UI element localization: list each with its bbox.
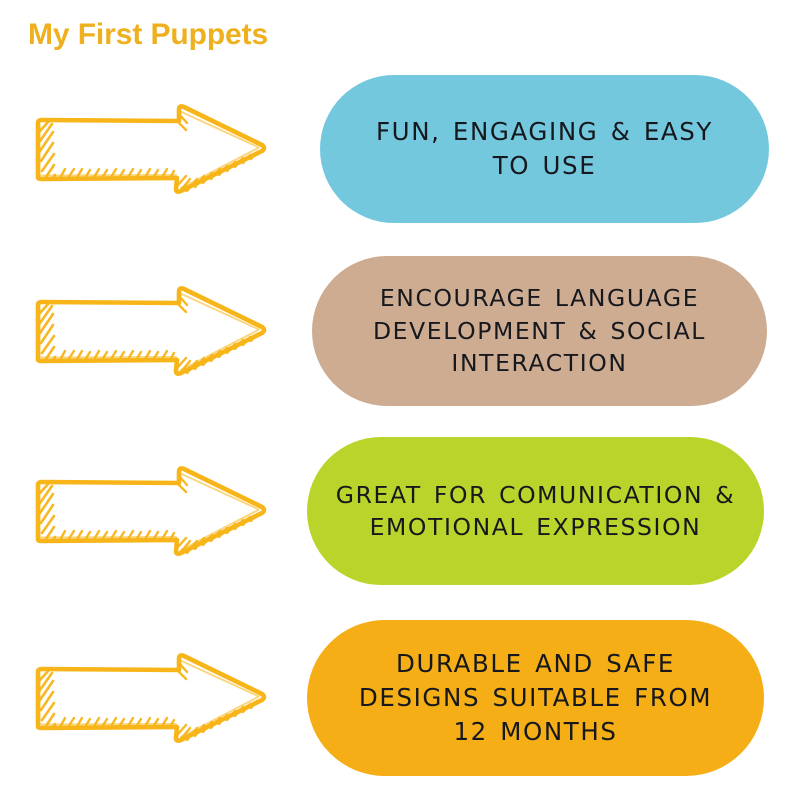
benefit-row: ENCOURAGE LANGUAGE DEVELOPMENT & SOCIAL … [0, 256, 800, 406]
benefit-text: DURABLE AND SAFE DESIGNS SUITABLE FROM 1… [359, 647, 712, 748]
benefit-text-line: EMOTIONAL EXPRESSION [336, 511, 735, 543]
benefit-text-line: ENCOURAGE LANGUAGE [373, 282, 706, 314]
benefit-pill: GREAT FOR COMUNICATION & EMOTIONAL EXPRE… [307, 437, 764, 585]
hand-drawn-right-arrow-icon [0, 99, 320, 199]
benefit-text-line: INTERACTION [373, 347, 706, 379]
benefit-text-line: 12 MONTHS [359, 715, 712, 749]
hand-drawn-right-arrow-icon [0, 281, 312, 381]
hand-drawn-right-arrow-icon [0, 461, 307, 561]
benefit-pill: DURABLE AND SAFE DESIGNS SUITABLE FROM 1… [307, 620, 764, 776]
benefit-pill: ENCOURAGE LANGUAGE DEVELOPMENT & SOCIAL … [312, 256, 767, 406]
page-title: My First Puppets [28, 16, 268, 54]
benefit-row: FUN, ENGAGING & EASY TO USE [0, 75, 800, 223]
benefit-text-line: GREAT FOR COMUNICATION & [336, 479, 735, 511]
infographic-canvas: My First Puppets [0, 0, 800, 800]
hand-drawn-right-arrow-icon [0, 648, 307, 748]
benefit-row: GREAT FOR COMUNICATION & EMOTIONAL EXPRE… [0, 437, 800, 585]
benefit-text-line: DEVELOPMENT & SOCIAL [373, 315, 706, 347]
benefit-text: GREAT FOR COMUNICATION & EMOTIONAL EXPRE… [336, 479, 735, 544]
benefit-text: ENCOURAGE LANGUAGE DEVELOPMENT & SOCIAL … [373, 282, 706, 379]
benefit-text-line: FUN, ENGAGING & EASY [376, 115, 713, 149]
benefit-text-line: DURABLE AND SAFE [359, 647, 712, 681]
benefit-row: DURABLE AND SAFE DESIGNS SUITABLE FROM 1… [0, 620, 800, 776]
benefit-text: FUN, ENGAGING & EASY TO USE [376, 115, 713, 183]
benefit-pill: FUN, ENGAGING & EASY TO USE [320, 75, 769, 223]
benefit-text-line: TO USE [376, 149, 713, 183]
benefit-text-line: DESIGNS SUITABLE FROM [359, 681, 712, 715]
